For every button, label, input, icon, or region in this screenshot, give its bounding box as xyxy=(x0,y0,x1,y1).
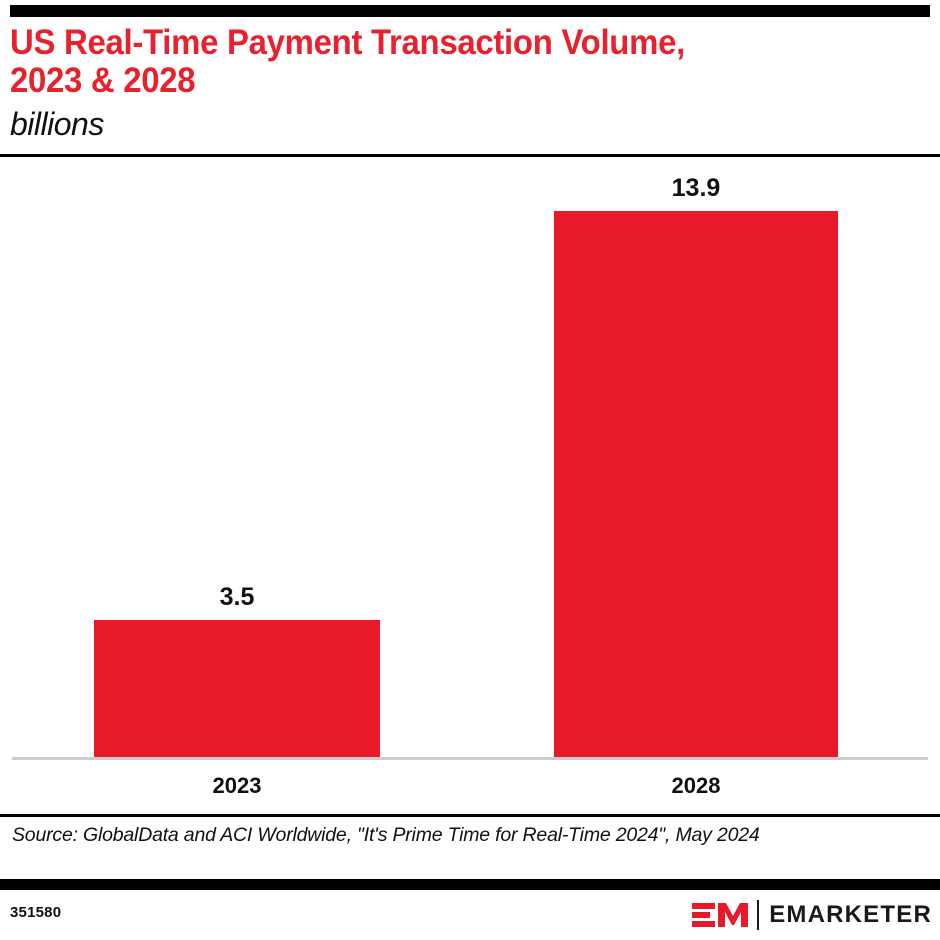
source-divider-rule xyxy=(0,814,940,817)
footer-black-rule xyxy=(0,879,940,890)
chart-subtitle-units: billions xyxy=(10,106,104,142)
chart-card: US Real-Time Payment Transaction Volume,… xyxy=(0,0,940,940)
x-axis-baseline xyxy=(12,757,928,760)
bar-2023 xyxy=(94,620,380,757)
bar-value-label-2028: 13.9 xyxy=(554,174,838,203)
top-black-rule xyxy=(10,5,930,17)
x-axis-label-2028: 2028 xyxy=(554,773,838,799)
chart-footer: 351580 EMARKETER xyxy=(0,890,940,940)
chart-id-number: 351580 xyxy=(10,904,61,921)
emarketer-logo[interactable]: EMARKETER xyxy=(692,898,932,932)
source-note: Source: GlobalData and ACI Worldwide, "I… xyxy=(12,823,924,848)
x-axis-label-2023: 2023 xyxy=(94,773,380,799)
plot-area: 3.5202313.92028 xyxy=(0,157,940,814)
chart-title: US Real-Time Payment Transaction Volume,… xyxy=(10,24,790,100)
em-monogram-icon xyxy=(692,899,748,931)
bar-2028 xyxy=(554,211,838,757)
emarketer-wordmark: EMARKETER xyxy=(769,903,932,927)
chart-header: US Real-Time Payment Transaction Volume,… xyxy=(0,17,940,154)
bar-value-label-2023: 3.5 xyxy=(94,583,380,612)
logo-divider xyxy=(757,900,759,930)
